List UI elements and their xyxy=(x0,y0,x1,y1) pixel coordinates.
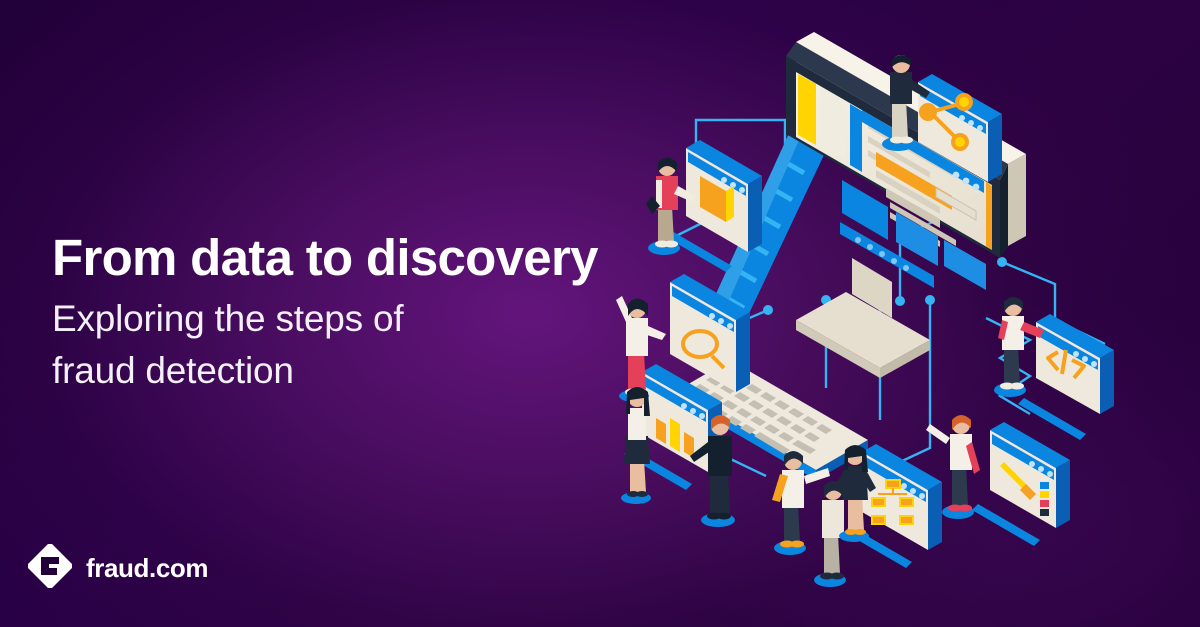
page-subtitle: Exploring the steps of fraud detection xyxy=(52,293,652,397)
person-left-bottom-woman xyxy=(621,387,651,504)
illustration-isometric-data-analysis-scene xyxy=(600,0,1200,627)
copy-block: From data to discovery Exploring the ste… xyxy=(52,231,652,397)
promo-banner: From data to discovery Exploring the ste… xyxy=(0,0,1200,627)
card-design-brush xyxy=(972,422,1070,546)
page-title: From data to discovery xyxy=(52,231,652,285)
fraud-diamond-f-mark xyxy=(28,544,72,593)
brand-name: fraud.com xyxy=(86,553,208,584)
brand-logo[interactable]: fraud.com xyxy=(28,544,208,593)
